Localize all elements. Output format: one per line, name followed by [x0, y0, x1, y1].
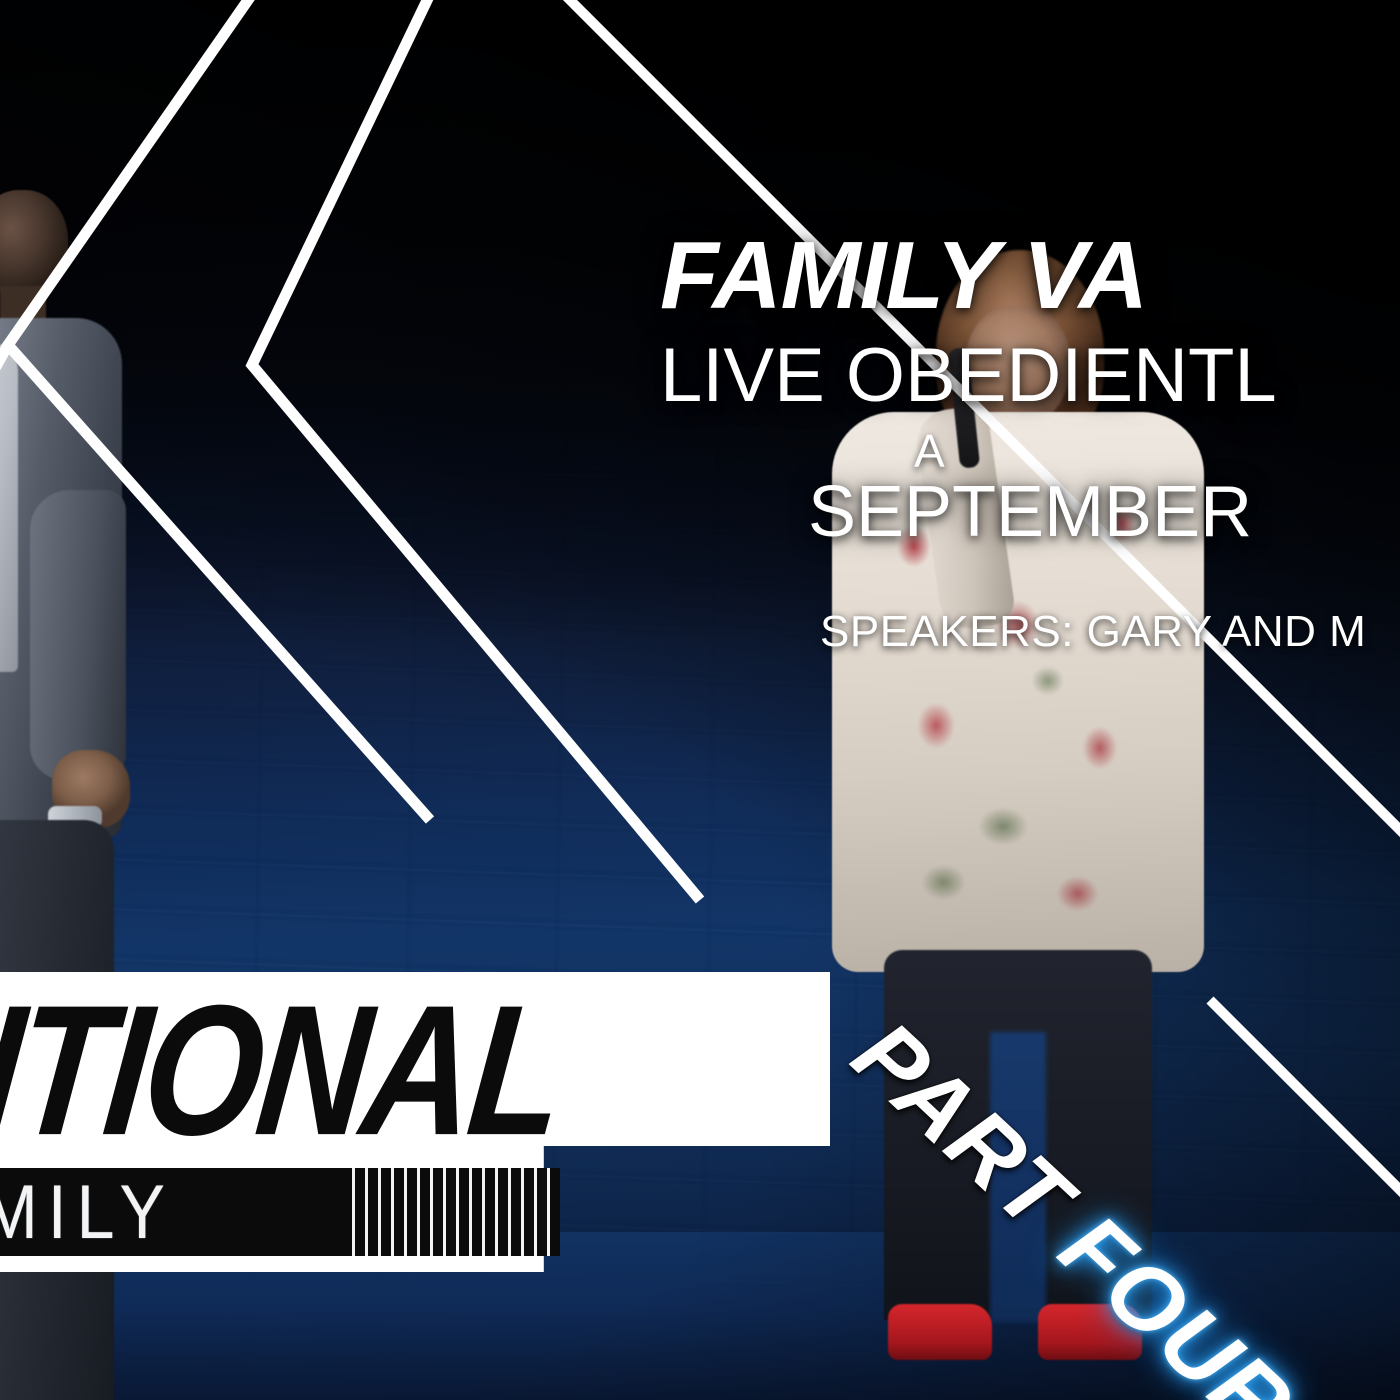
woman-shoe-left [888, 1304, 992, 1360]
logo-subword: FAMILY [0, 1174, 175, 1250]
logo-wordmark: NDITIONAL [0, 978, 828, 1163]
man-dress-shirt [0, 342, 18, 672]
man-arm [30, 490, 126, 780]
series-logo: NDITIONAL FAMILY [0, 972, 830, 1272]
page-title: FAMILY VA [660, 228, 1400, 324]
overlay-speakers: SPEAKERS: GARY AND M [820, 610, 1400, 654]
logo-barcode-bar: FAMILY [0, 1168, 560, 1256]
overlay-subtitle: LIVE OBEDIENTL [660, 338, 1400, 414]
man-head [0, 190, 68, 298]
cover-art-canvas: FAMILY VA LIVE OBEDIENTL A SEPTEMBER SPE… [0, 0, 1400, 1400]
overlay-text-block: FAMILY VA LIVE OBEDIENTL A SEPTEMBER SPE… [660, 228, 1400, 654]
overlay-at-line: A [914, 428, 1400, 474]
logo-subword-plate: FAMILY [0, 1168, 344, 1256]
overlay-date: SEPTEMBER [808, 476, 1400, 548]
